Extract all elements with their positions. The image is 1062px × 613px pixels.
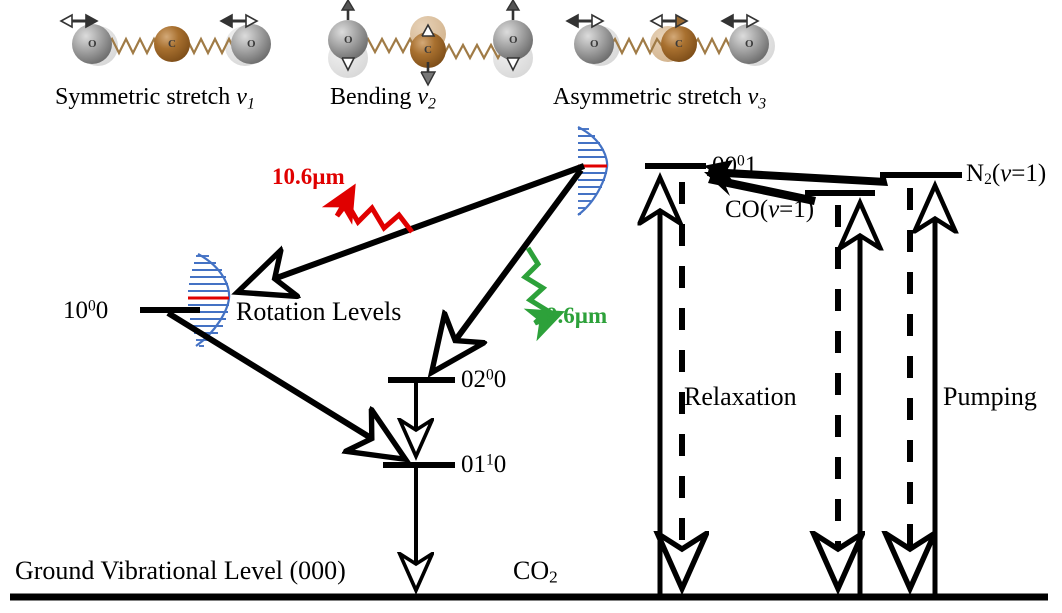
level-label-0200: 0200 <box>461 366 506 394</box>
annotation-9-6um: 9.6µm <box>546 303 607 329</box>
level-label-n2-pre: N <box>966 160 984 187</box>
level-label-0110: 0110 <box>461 451 506 479</box>
figure-canvas: Symmetric stretch v1 Bending v2 Asymmetr… <box>0 0 1062 613</box>
level-label-0001-tail: 1 <box>745 152 758 179</box>
level-label-n2-sub: 2 <box>984 171 992 188</box>
level-label-0001-sup: 0 <box>737 153 745 170</box>
transition-arrow-1000-to-0110 <box>168 313 405 459</box>
level-label-1000-main: 10 <box>63 297 88 324</box>
level-label-n2-mid: ( <box>992 160 1000 187</box>
level-label-0110-main: 01 <box>461 451 486 478</box>
photon-squiggle-10-6um <box>337 190 412 232</box>
annotation-10-6um: 10.6µm <box>272 164 345 190</box>
level-label-co-pre: CO( <box>725 196 768 223</box>
transition-arrow-9-6um <box>432 170 581 372</box>
annotation-pumping: Pumping <box>943 382 1037 412</box>
level-label-n2: N2(v=1) <box>966 160 1046 189</box>
level-label-ground: Ground Vibrational Level (000) <box>15 556 346 586</box>
level-label-0200-main: 02 <box>461 366 486 393</box>
molecule-label-co2: CO2 <box>513 556 558 587</box>
level-label-n2-italic: v <box>1000 160 1011 187</box>
level-label-0110-tail: 0 <box>494 451 507 478</box>
level-label-0001-main: 00 <box>712 152 737 179</box>
molecule-label-co2-main: CO <box>513 556 549 585</box>
level-label-co: CO(v=1) <box>725 196 814 224</box>
level-label-0200-sup: 0 <box>486 367 494 384</box>
level-label-0001: 0001 <box>712 152 757 180</box>
level-label-0110-sup: 1 <box>486 452 494 469</box>
level-label-1000-tail: 0 <box>96 297 109 324</box>
level-label-n2-post: =1) <box>1011 160 1046 187</box>
level-label-co-post: =1) <box>779 196 814 223</box>
annotation-rotation-levels: Rotation Levels <box>236 297 401 327</box>
level-label-1000-sup: 0 <box>88 298 96 315</box>
level-label-1000: 1000 <box>63 297 108 325</box>
annotation-relaxation: Relaxation <box>684 382 797 412</box>
level-label-co-italic: v <box>768 196 779 223</box>
level-label-0200-tail: 0 <box>494 366 507 393</box>
rotation-levels-upper <box>578 127 607 215</box>
energy-level-diagram-layer <box>0 0 1062 613</box>
molecule-label-co2-sub: 2 <box>549 567 558 586</box>
